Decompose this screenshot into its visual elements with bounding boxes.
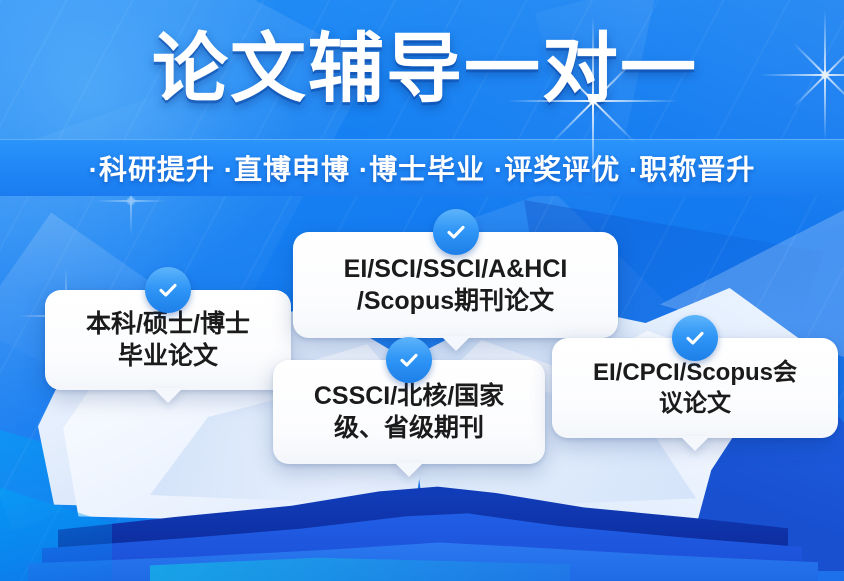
card-tail [680, 436, 710, 451]
card-line-1: EI/CPCI/Scopus会 [593, 357, 797, 388]
promo-poster: 论文辅导一对一 ·科研提升 ·直博申博 ·博士毕业 ·评奖评优 ·职称晋升 本科… [0, 0, 844, 581]
check-circle-icon [672, 315, 718, 361]
card-tail [441, 336, 471, 351]
card-tail [153, 388, 183, 403]
service-card-ei-cpci-scopus-conference[interactable]: EI/CPCI/Scopus会 议论文 [552, 338, 838, 438]
card-line-2: 议论文 [659, 388, 731, 419]
check-circle-icon [386, 337, 432, 383]
card-line-2: 级、省级期刊 [334, 412, 484, 445]
card-line-1: CSSCI/北核/国家 [314, 380, 504, 413]
service-card-undergrad-master-phd[interactable]: 本科/硕士/博士 毕业论文 [45, 290, 291, 390]
page-title: 论文辅导一对一 [146, 32, 698, 108]
service-card-ei-sci-ssci-ahci-scopus-journal[interactable]: EI/SCI/SSCI/A&HCI /Scopus期刊论文 [293, 232, 618, 338]
check-circle-icon [145, 267, 191, 313]
card-line-2: 毕业论文 [118, 340, 218, 373]
service-card-cssci-core-national-provincial-journal[interactable]: CSSCI/北核/国家 级、省级期刊 [273, 360, 545, 464]
card-line-1: EI/SCI/SSCI/A&HCI [344, 253, 568, 286]
check-circle-icon [433, 209, 479, 255]
poster-header: 论文辅导一对一 [0, 0, 844, 140]
card-line-2: /Scopus期刊论文 [357, 285, 554, 318]
subtitle-bar: ·科研提升 ·直博申博 ·博士毕业 ·评奖评优 ·职称晋升 [0, 139, 844, 196]
subtitle-text: ·科研提升 ·直博申博 ·博士毕业 ·评奖评优 ·职称晋升 [89, 148, 756, 188]
card-tail [394, 462, 424, 477]
